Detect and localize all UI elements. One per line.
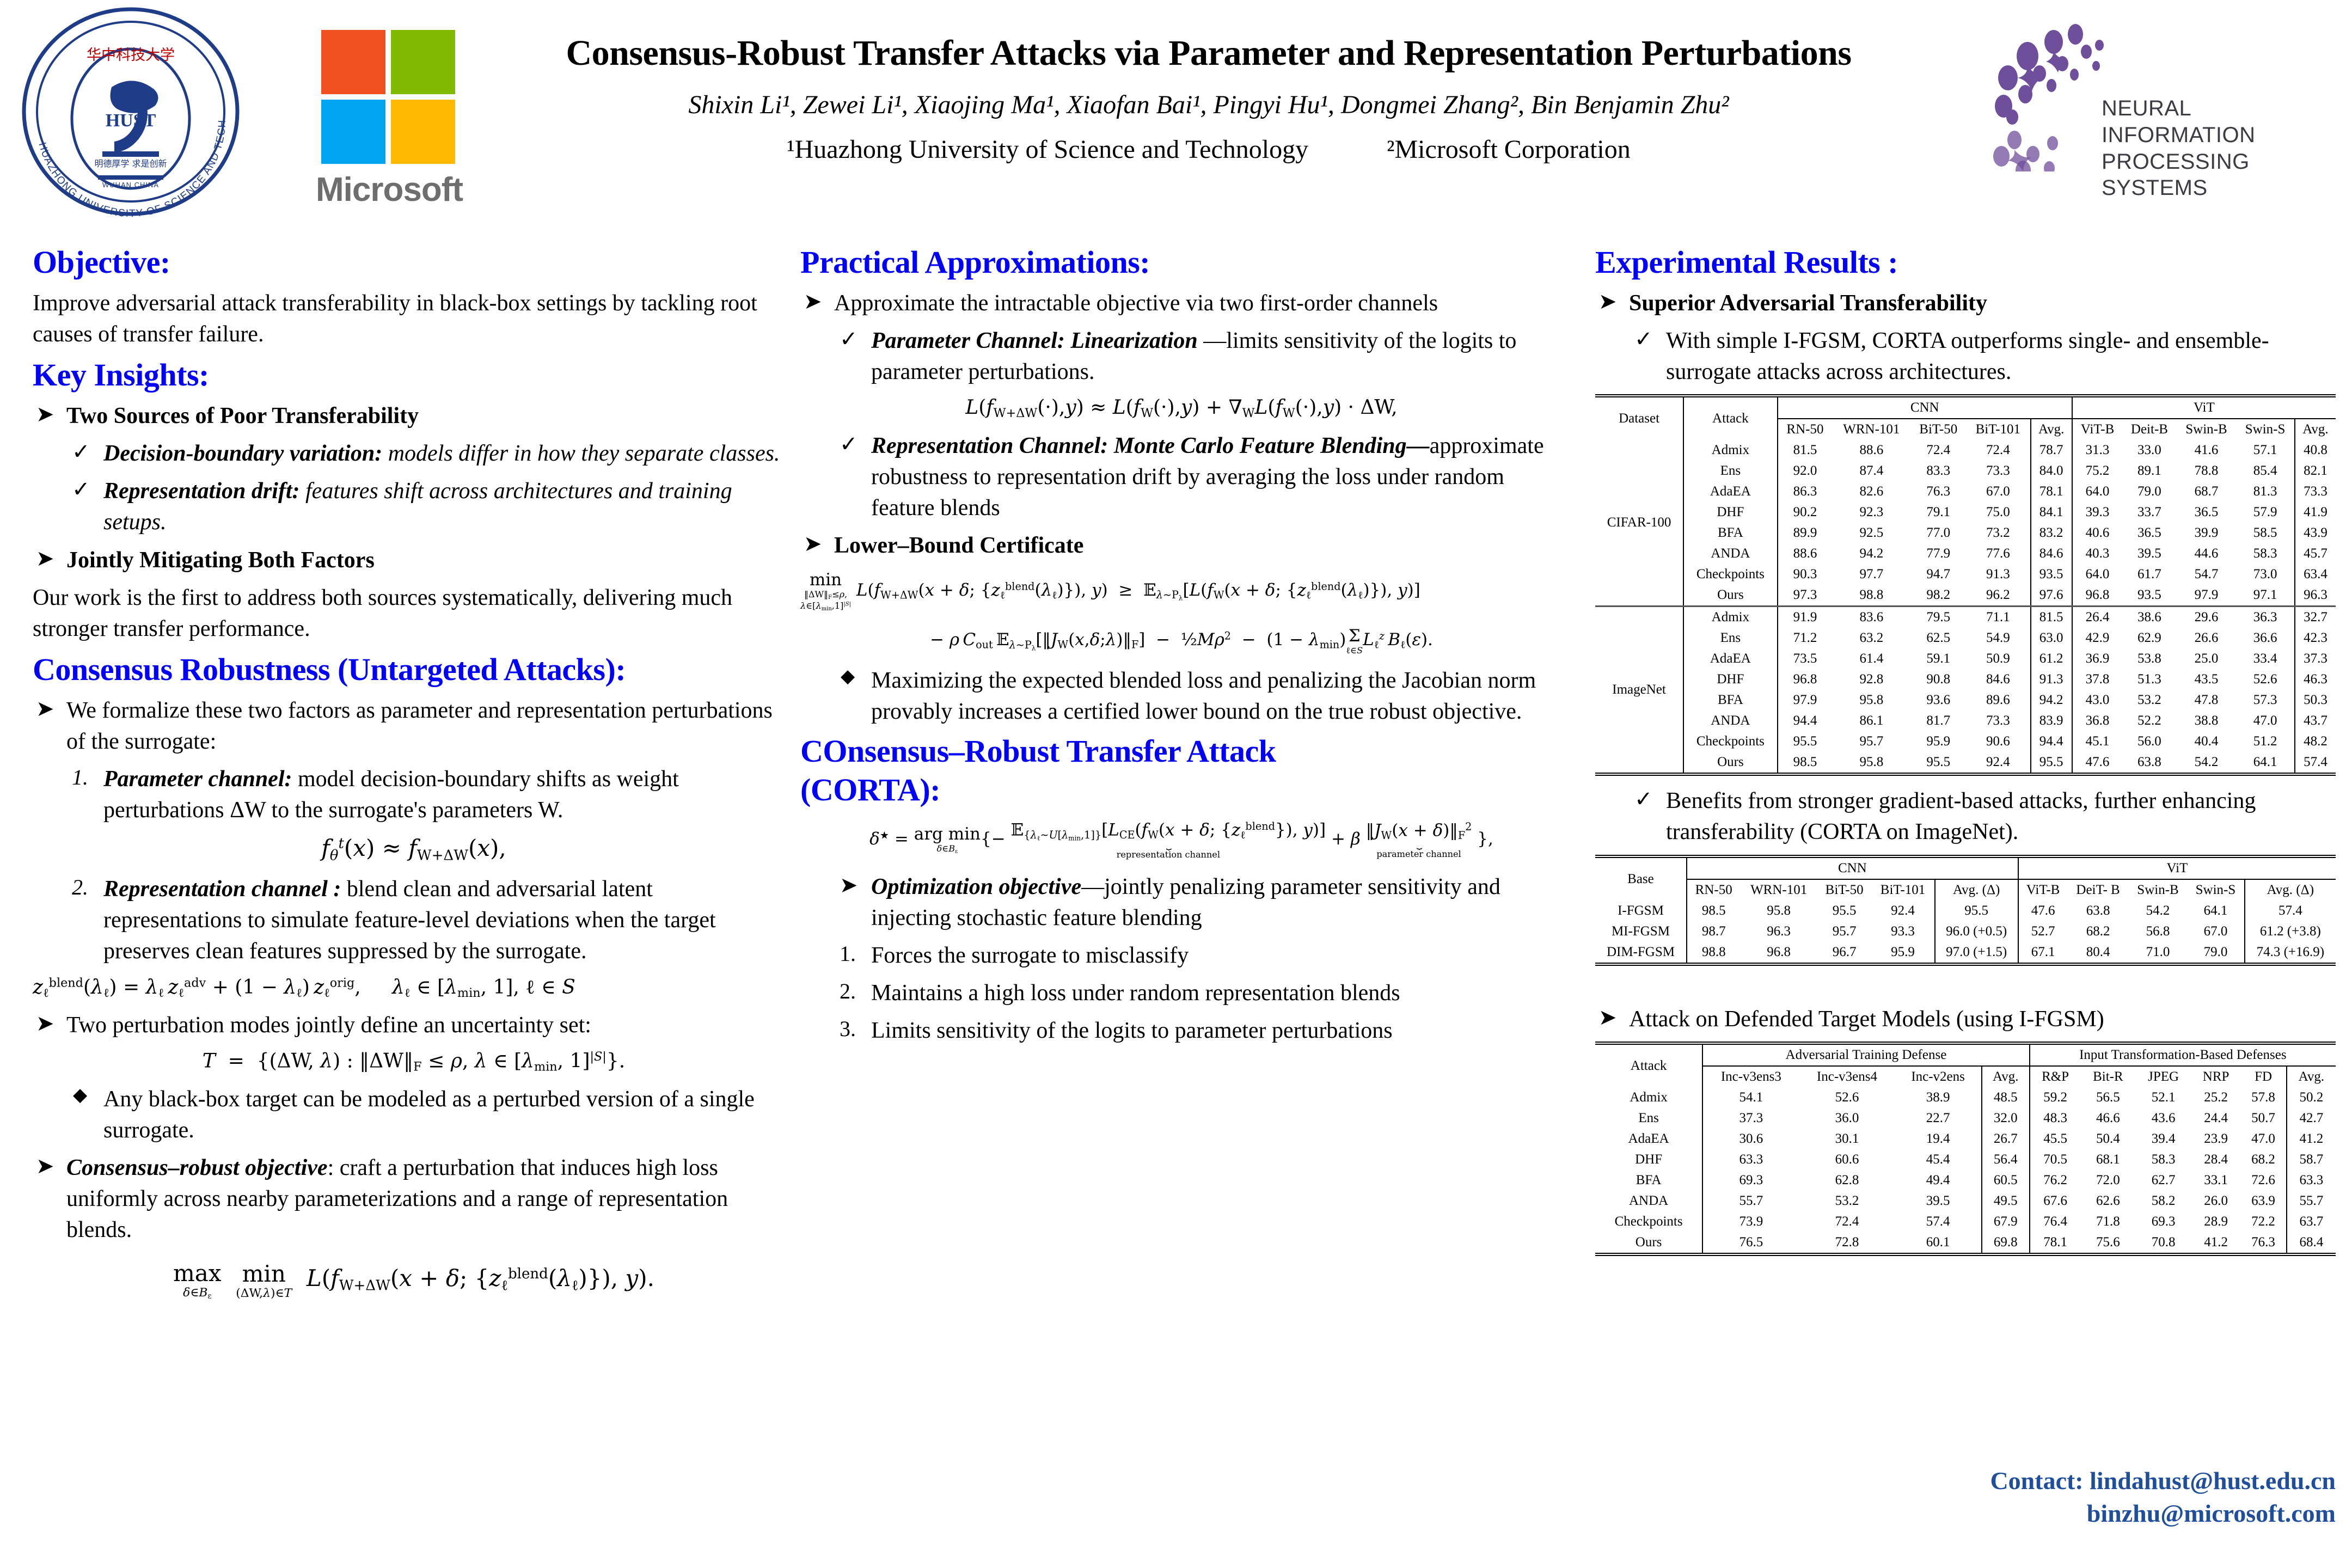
cell-value: 53.2 [2122, 690, 2176, 710]
cell-value: 78.1 [2030, 1232, 2081, 1253]
th3-it-avg: Avg. [2287, 1066, 2336, 1087]
cell-value: 67.0 [2187, 921, 2244, 942]
cell-value: 78.1 [2031, 481, 2072, 502]
th-deitb: Deit-B [2122, 419, 2176, 440]
equation-parameter-channel: fθt(x) ≈ fW+ΔW(x), [33, 835, 795, 863]
cell-value: 47.0 [2240, 1129, 2287, 1149]
table3-body: Admix54.152.638.948.559.256.552.125.257.… [1595, 1087, 2336, 1253]
th-wrn101: WRN-101 [1832, 419, 1910, 440]
table-row: Ours98.595.895.592.495.547.663.854.264.1… [1595, 752, 2336, 773]
cell-value: 54.2 [2177, 752, 2237, 773]
table1-head: Dataset Attack CNN ViT RN-50 WRN-101 BiT… [1595, 397, 2336, 440]
cell-value: 60.6 [1799, 1149, 1895, 1170]
cell-value: 63.2 [1832, 628, 1910, 648]
contact-email-1[interactable]: Contact: lindahust@hust.edu.cn [1595, 1465, 2336, 1497]
cell-value: 97.0 (+1.5) [1935, 942, 2018, 963]
optimization-point-3: 3. Limits sensitivity of the logits to p… [800, 1015, 1563, 1046]
cell-value: 96.8 [2072, 585, 2122, 607]
cell-value: 96.7 [1817, 942, 1872, 963]
equation-uncertainty-set: T = {(ΔW, λ) : ‖ΔW‖F ≤ ρ, λ ∈ [λmin, 1]|… [33, 1050, 795, 1074]
check-ifgsm-note: ✓ With simple I-FGSM, CORTA outperforms … [1595, 326, 2336, 388]
number-bullet-2: 2. [72, 873, 88, 902]
th2-deitb: DeiT- B [2067, 879, 2128, 901]
poster-title: Consensus-Robust Transfer Attacks via Pa… [479, 33, 1938, 74]
th2-cnn-avg: Avg. (Δ) [1935, 879, 2018, 901]
equation-lower-bound-line2: − ρ Cout 𝔼λ∼Pλ[‖JW(x,δ;λ)‖F] − ½Mρ2 − (1… [800, 626, 1563, 655]
microsoft-square-red [321, 30, 385, 94]
th-rn50: RN-50 [1778, 419, 1833, 440]
cell-value: 31.3 [2072, 440, 2122, 461]
cell-value: 57.8 [2240, 1087, 2287, 1108]
cell-value: 54.1 [1702, 1087, 1799, 1108]
microsoft-square-yellow [391, 100, 455, 164]
cell-value: 89.9 [1778, 523, 1833, 543]
cell-value: 86.3 [1778, 481, 1833, 502]
th-swins: Swin-S [2236, 419, 2295, 440]
cell-value: 91.3 [2031, 669, 2072, 690]
hust-chinese-name: 华中科技大学 [87, 47, 175, 64]
cell-value: 98.8 [1832, 585, 1910, 607]
cell-value: 36.5 [2122, 523, 2176, 543]
th2-vit-avg: Avg. (Δ) [2245, 879, 2336, 901]
cell-value: 68.2 [2067, 921, 2128, 942]
cell-value: 81.5 [1778, 440, 1833, 461]
cell-value: 91.9 [1778, 607, 1833, 628]
cell-value: 63.4 [2295, 564, 2336, 585]
table-row: DHF63.360.645.456.470.568.158.328.468.25… [1595, 1149, 2336, 1170]
cell-value: 93.5 [2031, 564, 2072, 585]
cell-value: 73.2 [1966, 523, 2030, 543]
cell-value: 85.4 [2236, 461, 2295, 481]
cell-value: 86.1 [1832, 710, 1910, 731]
cell-value: 52.6 [2236, 669, 2295, 690]
column-right: Experimental Results : ➤ Superior Advers… [1595, 245, 2336, 1266]
results-table-defenses: Attack Adversarial Training Defense Inpu… [1595, 1045, 2336, 1253]
cell-value: 46.3 [2295, 669, 2336, 690]
cell-value: 48.5 [1982, 1087, 2030, 1108]
cell-value: 52.7 [2018, 921, 2068, 942]
cell-value: 95.5 [2031, 752, 2072, 773]
cell-value: 75.0 [1966, 502, 2030, 523]
table-row: BFA97.995.893.689.694.243.053.247.857.35… [1595, 690, 2336, 710]
cell-value: 81.7 [1910, 710, 1966, 731]
microsoft-logo: Microsoft [305, 30, 474, 210]
cell-value: 53.8 [2122, 648, 2176, 669]
cell-value: 56.8 [2129, 921, 2188, 942]
cell-value: 36.3 [2236, 607, 2295, 628]
cell-value: 45.5 [2030, 1129, 2081, 1149]
lower-bound-note: ◆ Maximizing the expected blended loss a… [800, 665, 1563, 727]
cell-value: 45.7 [2295, 543, 2336, 564]
cell-value: 88.6 [1778, 543, 1833, 564]
cell-value: 52.1 [2135, 1087, 2191, 1108]
cell-value: 75.2 [2072, 461, 2122, 481]
cell-value: 92.4 [1966, 752, 2030, 773]
approx-monte-carlo-blending: ✓ Representation Channel: Monte Carlo Fe… [800, 431, 1563, 524]
column-middle: Practical Approximations: ➤ Approximate … [800, 245, 1563, 1053]
number-bullet-1: 1. [72, 763, 88, 792]
cell-row-label: Admix [1683, 607, 1778, 628]
cell-value: 59.2 [2030, 1087, 2081, 1108]
cell-value: 64.1 [2187, 901, 2244, 921]
microsoft-square-blue [321, 100, 385, 164]
microsoft-squares-icon [321, 30, 457, 165]
contact-email-2[interactable]: binzhu@microsoft.com [1595, 1497, 2336, 1530]
cell-value: 76.2 [2030, 1170, 2081, 1191]
diamond-bullet-icon: ◆ [841, 664, 855, 689]
cell-value: 33.7 [2122, 502, 2176, 523]
table2-body: I-FGSM98.595.895.592.495.547.663.854.264… [1595, 901, 2336, 963]
cell-value: 33.4 [2236, 648, 2295, 669]
optimization-objective: ➤ Optimization objective—jointly penaliz… [800, 872, 1563, 934]
results-benefits-list: ✓ Benefits from stronger gradient-based … [1595, 786, 2336, 848]
cell-value: 96.0 (+0.5) [1935, 921, 2018, 942]
th2-vitb: ViT-B [2018, 879, 2068, 901]
cell-value: 37.8 [2072, 669, 2122, 690]
cell-value: 78.7 [2031, 440, 2072, 461]
cell-value: 79.5 [1910, 607, 1966, 628]
cell-value: 41.2 [2287, 1129, 2336, 1149]
th-vitb: ViT-B [2072, 419, 2122, 440]
cell-value: 58.3 [2135, 1149, 2191, 1170]
cell-value: 95.9 [1910, 731, 1966, 752]
results-table-2-wrapper: Base CNN ViT RN-50 WRN-101 BiT-50 BiT-10… [1595, 855, 2336, 966]
approx-intro: ➤ Approximate the intractable objective … [800, 288, 1563, 319]
cell-value: 44.6 [2177, 543, 2237, 564]
cell-value: 98.7 [1687, 921, 1741, 942]
title-block: Consensus-Robust Transfer Attacks via Pa… [479, 33, 1938, 164]
results-table-main: Dataset Attack CNN ViT RN-50 WRN-101 BiT… [1595, 397, 2336, 773]
cell-value: 69.3 [1702, 1170, 1799, 1191]
cell-value: 89.1 [2122, 461, 2176, 481]
cell-value: 24.4 [2191, 1108, 2240, 1129]
cell-value: 43.0 [2072, 690, 2122, 710]
check-benefits-note: ✓ Benefits from stronger gradient-based … [1595, 786, 2336, 848]
cell-value: 72.4 [1966, 440, 2030, 461]
cell-dataset: ImageNet [1595, 607, 1683, 773]
cell-value: 67.9 [1982, 1211, 2030, 1232]
cell-value: 84.1 [2031, 502, 2072, 523]
cell-value: 92.4 [1871, 901, 1934, 921]
table-row: BFA89.992.577.073.283.240.636.539.958.54… [1595, 523, 2336, 543]
cell-value: 55.7 [1702, 1191, 1799, 1211]
consensus-blackbox-note: ◆ Any black-box target can be modeled as… [33, 1084, 795, 1146]
cell-value: 73.3 [2295, 481, 2336, 502]
cell-value: 63.8 [2122, 752, 2176, 773]
defended-models-list: ➤ Attack on Defended Target Models (usin… [1595, 1004, 2336, 1035]
cell-value: 97.7 [1832, 564, 1910, 585]
cell-value: 22.7 [1895, 1108, 1981, 1129]
cell-value: 42.3 [2295, 628, 2336, 648]
cell-value: 36.6 [2236, 628, 2295, 648]
table-row: DHF96.892.890.884.691.337.851.343.552.64… [1595, 669, 2336, 690]
heading-corta-line2: (CORTA): [800, 773, 1563, 808]
microsoft-square-green [391, 30, 455, 94]
cell-value: 97.9 [1778, 690, 1833, 710]
table-row: Checkpoints73.972.457.467.976.471.869.32… [1595, 1211, 2336, 1232]
cell-value: 61.7 [2122, 564, 2176, 585]
cell-value: 94.7 [1910, 564, 1966, 585]
diamond-bullet-icon: ◆ [73, 1083, 87, 1108]
cell-value: 40.8 [2295, 440, 2336, 461]
cell-row-label: DIM-FGSM [1595, 942, 1687, 963]
cell-value: 40.6 [2072, 523, 2122, 543]
table-row: ANDA94.486.181.773.383.936.852.238.847.0… [1595, 710, 2336, 731]
cell-dataset: CIFAR-100 [1595, 440, 1683, 607]
consensus-list: ➤ We formalize these two factors as para… [33, 695, 795, 826]
cell-value: 61.2 [2031, 648, 2072, 669]
cell-value: 93.3 [1871, 921, 1934, 942]
table1-header-group-row: Dataset Attack CNN ViT [1595, 397, 2336, 419]
cell-value: 30.1 [1799, 1129, 1895, 1149]
cell-value: 95.8 [1741, 901, 1817, 921]
th2-wrn101: WRN-101 [1741, 879, 1817, 901]
cell-value: 73.3 [1966, 461, 2030, 481]
cell-value: 26.7 [1982, 1129, 2030, 1149]
cell-value: 58.7 [2287, 1149, 2336, 1170]
number-bullet-2: 2. [840, 977, 856, 1006]
poster-root: HUST 华中科技大学 明德厚学 求是创新 WUHAN CHINA HUAZHO… [0, 0, 2352, 1568]
cell-value: 48.2 [2295, 731, 2336, 752]
cell-value: 40.4 [2177, 731, 2237, 752]
cell-value: 63.0 [2031, 628, 2072, 648]
cell-value: 71.2 [1778, 628, 1833, 648]
cell-value: 43.7 [2295, 710, 2336, 731]
cell-value: 96.8 [1741, 942, 1817, 963]
cell-row-label: Ens [1683, 461, 1778, 481]
cell-value: 75.6 [2081, 1232, 2136, 1253]
cell-value: 96.3 [1741, 921, 1817, 942]
cell-row-label: Ours [1595, 1232, 1702, 1253]
table-row: DIM-FGSM98.896.896.795.997.0 (+1.5)67.18… [1595, 942, 2336, 963]
cell-value: 68.2 [2240, 1149, 2287, 1170]
cell-value: 95.5 [1910, 752, 1966, 773]
cell-value: 97.9 [2177, 585, 2237, 607]
cell-value: 58.5 [2236, 523, 2295, 543]
arrow-bullet-icon: ➤ [36, 400, 54, 429]
th2-group-vit: ViT [2018, 858, 2336, 879]
arrow-bullet-icon: ➤ [36, 1151, 54, 1181]
cell-value: 69.8 [1982, 1232, 2030, 1253]
cell-value: 72.4 [1910, 440, 1966, 461]
cell-value: 81.5 [2031, 607, 2072, 628]
th2-bit101: BiT-101 [1871, 879, 1934, 901]
table-row: BFA69.362.849.460.576.272.062.733.172.66… [1595, 1170, 2336, 1191]
neurips-wordmark: NEURAL INFORMATION PROCESSING SYSTEMS [2102, 95, 2341, 201]
cell-value: 84.0 [2031, 461, 2072, 481]
arrow-bullet-icon: ➤ [804, 287, 822, 316]
lower-bound-certificate-heading: ➤ Lower–Bound Certificate [800, 530, 1563, 561]
cell-value: 92.8 [1832, 669, 1910, 690]
cell-row-label: DHF [1595, 1149, 1702, 1170]
hust-city: WUHAN CHINA [102, 181, 159, 189]
cell-value: 68.4 [2287, 1232, 2336, 1253]
cell-value: 96.2 [1966, 585, 2030, 607]
cell-value: 36.9 [2072, 648, 2122, 669]
approximations-list: ➤ Approximate the intractable objective … [800, 288, 1563, 388]
cell-value: 70.8 [2135, 1232, 2191, 1253]
cell-row-label: Checkpoints [1683, 731, 1778, 752]
table1-body: CIFAR-100Admix81.588.672.472.478.731.333… [1595, 440, 2336, 773]
table-row: Checkpoints95.595.795.990.694.445.156.04… [1595, 731, 2336, 752]
table-row: ANDA55.753.239.549.567.662.658.226.063.9… [1595, 1191, 2336, 1211]
cell-value: 32.0 [1982, 1108, 2030, 1129]
bullet-defended-models: ➤ Attack on Defended Target Models (usin… [1595, 1004, 2336, 1035]
cell-value: 61.2 (+3.8) [2245, 921, 2336, 942]
cell-value: 30.6 [1702, 1129, 1799, 1149]
cell-value: 37.3 [2295, 648, 2336, 669]
objective-text: Improve adversarial attack transferabili… [33, 288, 795, 350]
results-table-3-wrapper: Attack Adversarial Training Defense Inpu… [1595, 1042, 2336, 1256]
cell-value: 89.6 [1966, 690, 2030, 710]
table3-header-group-row: Attack Adversarial Training Defense Inpu… [1595, 1045, 2336, 1066]
table-row: ImageNetAdmix91.983.679.571.181.526.438.… [1595, 607, 2336, 628]
cell-value: 38.6 [2122, 607, 2176, 628]
table-row: Checkpoints90.397.794.791.393.564.061.75… [1595, 564, 2336, 585]
equation-blend: zℓblend(λℓ) = λℓ zℓadv + (1 − λℓ) zℓorig… [33, 976, 795, 1000]
th-dataset: Dataset [1595, 397, 1683, 440]
cell-value: 47.6 [2072, 752, 2122, 773]
cell-value: 51.3 [2122, 669, 2176, 690]
cell-value: 84.6 [1966, 669, 2030, 690]
cell-value: 96.3 [2295, 585, 2336, 607]
arrow-bullet-icon: ➤ [36, 544, 54, 573]
insight-decision-boundary: ✓ Decision-boundary variation: models di… [33, 438, 795, 469]
cell-value: 88.6 [1832, 440, 1910, 461]
cell-value: 72.2 [2240, 1211, 2287, 1232]
cell-row-label: Ens [1595, 1108, 1702, 1129]
arrow-bullet-icon: ➤ [36, 694, 54, 724]
cell-value: 28.9 [2191, 1211, 2240, 1232]
cell-value: 78.8 [2177, 461, 2237, 481]
cell-row-label: ANDA [1595, 1191, 1702, 1211]
cell-value: 64.1 [2236, 752, 2295, 773]
cell-value: 97.1 [2236, 585, 2295, 607]
th-cnn-avg: Avg. [2031, 419, 2072, 440]
cell-value: 57.4 [1895, 1211, 1981, 1232]
bullet-superior-transferability: ➤ Superior Adversarial Transferability [1595, 288, 2336, 319]
cell-value: 47.0 [2236, 710, 2295, 731]
cell-value: 62.8 [1799, 1170, 1895, 1191]
table-row: AdaEA30.630.119.426.745.550.439.423.947.… [1595, 1129, 2336, 1149]
cell-value: 98.5 [1778, 752, 1833, 773]
cell-value: 95.8 [1832, 690, 1910, 710]
cell-value: 23.9 [2191, 1129, 2240, 1149]
optimization-point-2: 2. Maintains a high loss under random re… [800, 978, 1563, 1009]
neurips-line-1: NEURAL INFORMATION [2102, 95, 2341, 149]
consensus-formalize: ➤ We formalize these two factors as para… [33, 695, 795, 757]
cell-value: 71.8 [2081, 1211, 2136, 1232]
th3-nrp: NRP [2191, 1066, 2240, 1087]
cell-value: 25.0 [2177, 648, 2237, 669]
cell-value: 95.7 [1832, 731, 1910, 752]
cell-value: 67.6 [2030, 1191, 2081, 1211]
table-row: AdaEA73.561.459.150.961.236.953.825.033.… [1595, 648, 2336, 669]
cell-value: 93.6 [1910, 690, 1966, 710]
check-bullet-icon: ✓ [1634, 785, 1653, 814]
cell-value: 95.9 [1871, 942, 1934, 963]
cell-value: 38.9 [1895, 1087, 1981, 1108]
equation-linearization: L(fW+ΔW(·),y) ≈ L(fW(·),y) + ∇WL(fW(·),y… [800, 396, 1563, 420]
cell-value: 98.5 [1687, 901, 1741, 921]
cell-value: 83.9 [2031, 710, 2072, 731]
cell-value: 72.0 [2081, 1170, 2136, 1191]
cell-value: 71.1 [1966, 607, 2030, 628]
approximations-list-2: ✓ Representation Channel: Monte Carlo Fe… [800, 431, 1563, 561]
optimization-point-1: 1. Forces the surrogate to misclassify [800, 940, 1563, 971]
th-bit101: BiT-101 [1966, 419, 2030, 440]
cell-value: 26.0 [2191, 1191, 2240, 1211]
check-bullet-icon: ✓ [72, 437, 90, 467]
consensus-list-4: ◆ Any black-box target can be modeled as… [33, 1084, 795, 1246]
cell-row-label: AdaEA [1683, 481, 1778, 502]
consensus-list-2: 2. Representation channel : blend clean … [33, 874, 795, 967]
key-insights-list: ➤ Two Sources of Poor Transferability ✓ … [33, 401, 795, 576]
table-row: I-FGSM98.595.895.592.495.547.663.854.264… [1595, 901, 2336, 921]
cell-value: 46.6 [2081, 1108, 2136, 1129]
cell-value: 84.6 [2031, 543, 2072, 564]
cell-value: 64.0 [2072, 481, 2122, 502]
affiliation-1: ¹Huazhong University of Science and Tech… [787, 135, 1308, 164]
cell-value: 45.1 [2072, 731, 2122, 752]
cell-value: 19.4 [1895, 1129, 1981, 1149]
cell-value: 36.0 [1799, 1108, 1895, 1129]
cell-row-label: AdaEA [1595, 1129, 1702, 1149]
cell-value: 57.3 [2236, 690, 2295, 710]
cell-value: 57.1 [2236, 440, 2295, 461]
lower-bound-note-list: ◆ Maximizing the expected blended loss a… [800, 665, 1563, 727]
cell-value: 95.5 [1778, 731, 1833, 752]
cell-value: 32.7 [2295, 607, 2336, 628]
cell-value: 47.6 [2018, 901, 2068, 921]
cell-value: 95.5 [1935, 901, 2018, 921]
insight-representation-drift: ✓ Representation drift: features shift a… [33, 476, 795, 538]
table-row: Ens37.336.022.732.048.346.643.624.450.74… [1595, 1108, 2336, 1129]
cell-value: 60.5 [1982, 1170, 2030, 1191]
th2-bit50: BiT-50 [1817, 879, 1872, 901]
table2-head: Base CNN ViT RN-50 WRN-101 BiT-50 BiT-10… [1595, 858, 2336, 901]
cell-value: 72.4 [1799, 1211, 1895, 1232]
cell-value: 56.4 [1982, 1149, 2030, 1170]
cell-value: 36.5 [2177, 502, 2237, 523]
th2-rn50: RN-50 [1687, 879, 1741, 901]
cell-value: 50.9 [1966, 648, 2030, 669]
cell-value: 87.4 [1832, 461, 1910, 481]
cell-value: 68.7 [2177, 481, 2237, 502]
cell-value: 79.1 [1910, 502, 1966, 523]
cell-value: 97.6 [2031, 585, 2072, 607]
consensus-list-3: ➤ Two perturbation modes jointly define … [33, 1010, 795, 1041]
cell-value: 92.0 [1778, 461, 1833, 481]
cell-row-label: Ens [1683, 628, 1778, 648]
arrow-bullet-icon: ➤ [1598, 1003, 1617, 1032]
cell-value: 63.8 [2067, 901, 2128, 921]
equation-lower-bound-line1: min‖ΔW‖F≤ρ,λ∈[λmin,1]|S| L(fW+ΔW(x + δ; … [800, 570, 1563, 612]
cell-value: 62.6 [2081, 1191, 2136, 1211]
cell-value: 76.3 [2240, 1232, 2287, 1253]
th3-fd: FD [2240, 1066, 2287, 1087]
cell-value: 61.4 [1832, 648, 1910, 669]
cell-value: 56.5 [2081, 1087, 2136, 1108]
table2-header-col-row: RN-50 WRN-101 BiT-50 BiT-101 Avg. (Δ) Vi… [1595, 879, 2336, 901]
cell-value: 71.0 [2129, 942, 2188, 963]
approx-parameter-linearization: ✓ Parameter Channel: Linearization —limi… [800, 326, 1563, 388]
cell-value: 97.3 [1778, 585, 1833, 607]
cell-value: 77.0 [1910, 523, 1966, 543]
cell-value: 90.2 [1778, 502, 1833, 523]
arrow-bullet-icon: ➤ [804, 529, 822, 559]
cell-value: 94.2 [2031, 690, 2072, 710]
